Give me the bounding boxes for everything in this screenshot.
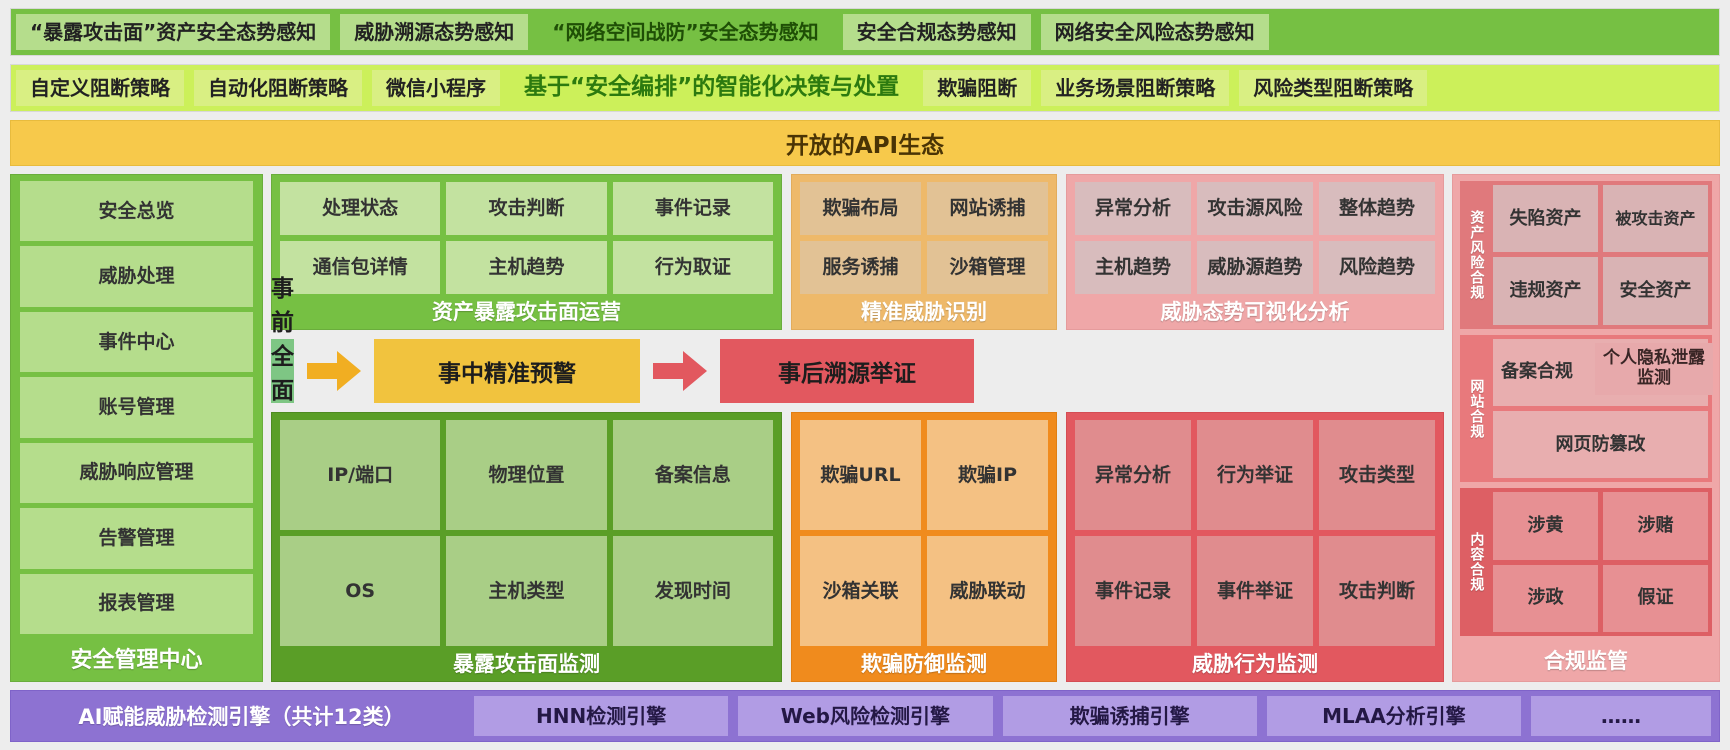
group-grid: 失陷资产 被攻击资产 违规资产 安全资产	[1493, 185, 1708, 325]
arrow-right-red	[649, 339, 711, 403]
architecture-diagram: “暴露攻击面”资产安全态势感知 威胁溯源态势感知 “网络空间战防”安全态势感知 …	[0, 0, 1730, 750]
chip-ip-port[interactable]: IP/端口	[280, 420, 440, 530]
orchestration-item-7[interactable]: 风险类型阻断策略	[1239, 70, 1427, 106]
chip-web-risk-engine[interactable]: Web风险检测引擎	[738, 696, 992, 736]
chip-attack-source-risk[interactable]: 攻击源风险	[1197, 182, 1313, 235]
orchestration-item-4[interactable]: 基于“安全编排”的智能化决策与处置	[510, 70, 913, 106]
stage-before: 事前全面梳理	[271, 339, 294, 403]
panel-grid: 异常分析 行为举证 攻击类型 事件记录 事件举证 攻击判断	[1075, 420, 1435, 646]
panel-title: 欺骗防御监测	[800, 646, 1048, 679]
chip-attacked-assets[interactable]: 被攻击资产	[1603, 185, 1708, 252]
chip-anomaly-analysis[interactable]: 异常分析	[1075, 182, 1191, 235]
chip-service-trap[interactable]: 服务诱捕	[800, 241, 921, 294]
chip-attack-judgement[interactable]: 攻击判断	[446, 182, 606, 235]
panel-precise-threat-identification: 欺骗布局 网站诱捕 服务诱捕 沙箱管理 精准威胁识别	[791, 174, 1057, 330]
panel-grid: 欺骗URL 欺骗IP 沙箱关联 威胁联动	[800, 420, 1048, 646]
security-center-title: 安全管理中心	[20, 639, 253, 677]
stage-flow-row: 事前全面梳理 事中精准预警 事后溯源举证	[271, 339, 325, 403]
panel-grid: 欺骗布局 网站诱捕 服务诱捕 沙箱管理	[800, 182, 1048, 294]
compliance-title: 合规监管	[1460, 642, 1712, 678]
perception-item-3[interactable]: “网络空间战防”安全态势感知	[538, 14, 832, 50]
compliance-supervision: 资产风险合规 失陷资产 被攻击资产 违规资产 安全资产 网站合规 备案合规 网页…	[1452, 174, 1720, 682]
chip-event-record[interactable]: 事件记录	[1075, 536, 1191, 646]
group-label-asset-risk: 资产风险合规	[1464, 185, 1488, 325]
panel-threat-behavior-monitoring: 异常分析 行为举证 攻击类型 事件记录 事件举证 攻击判断 威胁行为监测	[1066, 412, 1444, 682]
panel-asset-exposure-operation: 处理状态 攻击判断 事件记录 通信包详情 主机趋势 行为取证 资产暴露攻击面运营	[271, 174, 782, 330]
panel-deception-defense-monitoring: 欺骗URL 欺骗IP 沙箱关联 威胁联动 欺骗防御监测	[791, 412, 1057, 682]
perception-item-4[interactable]: 安全合规态势感知	[843, 14, 1031, 50]
chip-behavior-evidence[interactable]: 行为举证	[1197, 420, 1313, 530]
chip-website-trap[interactable]: 网站诱捕	[927, 182, 1048, 235]
perception-item-5[interactable]: 网络安全风险态势感知	[1041, 14, 1269, 50]
panel-grid: 异常分析 攻击源风险 整体趋势 主机趋势 威胁源趋势 风险趋势	[1075, 182, 1435, 294]
chip-sandbox-association[interactable]: 沙箱关联	[800, 536, 921, 646]
chip-more-engines[interactable]: ……	[1531, 696, 1711, 736]
chip-attack-judgement[interactable]: 攻击判断	[1319, 536, 1435, 646]
chip-physical-location[interactable]: 物理位置	[446, 420, 606, 530]
orchestration-item-2[interactable]: 自动化阻断策略	[194, 70, 362, 106]
sidebar-item-alarm-management[interactable]: 告警管理	[20, 508, 253, 568]
chip-attack-type[interactable]: 攻击类型	[1319, 420, 1435, 530]
chip-secure-assets[interactable]: 安全资产	[1603, 257, 1708, 324]
chip-event-evidence[interactable]: 事件举证	[1197, 536, 1313, 646]
api-ecosystem-band: 开放的API生态	[10, 120, 1720, 166]
panel-threat-situation-visualization: 异常分析 攻击源风险 整体趋势 主机趋势 威胁源趋势 风险趋势 威胁态势可视化分…	[1066, 174, 1444, 330]
chip-os[interactable]: OS	[280, 536, 440, 646]
group-label-content: 内容合规	[1464, 492, 1488, 632]
group-grid: 涉黄 涉赌 涉政 假证	[1493, 492, 1708, 632]
panel-title: 威胁态势可视化分析	[1075, 294, 1435, 327]
chip-host-trend[interactable]: 主机趋势	[446, 241, 606, 294]
chip-host-trend[interactable]: 主机趋势	[1075, 241, 1191, 294]
perception-item-2[interactable]: 威胁溯源态势感知	[340, 14, 528, 50]
bottom-panel-row: IP/端口 物理位置 备案信息 OS 主机类型 发现时间 暴露攻击面监测 欺骗U…	[271, 412, 1444, 682]
compliance-group-asset-risk: 资产风险合规 失陷资产 被攻击资产 违规资产 安全资产	[1460, 181, 1712, 329]
sidebar-item-threat-handling[interactable]: 威胁处理	[20, 246, 253, 306]
panel-title: 威胁行为监测	[1075, 646, 1435, 679]
chip-risk-trend[interactable]: 风险趋势	[1319, 241, 1435, 294]
chip-compromised-assets[interactable]: 失陷资产	[1493, 185, 1598, 252]
panel-title: 精准威胁识别	[800, 294, 1048, 327]
sidebar-item-threat-response[interactable]: 威胁响应管理	[20, 443, 253, 503]
chip-hnn-engine[interactable]: HNN检测引擎	[474, 696, 728, 736]
chip-deception-url[interactable]: 欺骗URL	[800, 420, 921, 530]
chip-registration-info[interactable]: 备案信息	[613, 420, 773, 530]
main-region: 安全总览 威胁处理 事件中心 账号管理 威胁响应管理 告警管理 报表管理 安全管…	[10, 174, 1720, 682]
chip-threat-linkage[interactable]: 威胁联动	[927, 536, 1048, 646]
panel-title: 资产暴露攻击面运营	[280, 294, 773, 327]
chip-event-record[interactable]: 事件记录	[613, 182, 773, 235]
chip-webpage-anti-tamper[interactable]: 网页防篡改	[1493, 411, 1708, 478]
stage-after: 事后溯源举证	[720, 339, 974, 403]
orchestration-item-3[interactable]: 微信小程序	[372, 70, 500, 106]
orchestration-item-6[interactable]: 业务场景阻断策略	[1041, 70, 1229, 106]
orchestration-band: 自定义阻断策略 自动化阻断策略 微信小程序 基于“安全编排”的智能化决策与处置 …	[10, 64, 1720, 112]
chip-fake-certificates[interactable]: 假证	[1603, 565, 1708, 632]
orchestration-item-1[interactable]: 自定义阻断策略	[16, 70, 184, 106]
panel-grid: 处理状态 攻击判断 事件记录 通信包详情 主机趋势 行为取证	[280, 182, 773, 294]
sidebar-item-overview[interactable]: 安全总览	[20, 181, 253, 241]
engine-band-title: AI赋能威胁检测引擎（共计12类）	[19, 696, 464, 736]
sidebar-item-event-center[interactable]: 事件中心	[20, 312, 253, 372]
chip-processing-status[interactable]: 处理状态	[280, 182, 440, 235]
engine-band: AI赋能威胁检测引擎（共计12类） HNN检测引擎 Web风险检测引擎 欺骗诱捕…	[10, 690, 1720, 742]
chip-gambling[interactable]: 涉赌	[1603, 492, 1708, 559]
chip-anomaly-analysis[interactable]: 异常分析	[1075, 420, 1191, 530]
chip-behavior-forensics[interactable]: 行为取证	[613, 241, 773, 294]
chip-mlaa-engine[interactable]: MLAA分析引擎	[1267, 696, 1521, 736]
chip-deception-ip[interactable]: 欺骗IP	[927, 420, 1048, 530]
chip-overall-trend[interactable]: 整体趋势	[1319, 182, 1435, 235]
arrow-right-amber	[303, 339, 365, 403]
chip-noncompliant-assets[interactable]: 违规资产	[1493, 257, 1598, 324]
chip-packet-detail[interactable]: 通信包详情	[280, 241, 440, 294]
chip-deception-trap-engine[interactable]: 欺骗诱捕引擎	[1003, 696, 1257, 736]
chip-political[interactable]: 涉政	[1493, 565, 1598, 632]
orchestration-item-5[interactable]: 欺骗阻断	[923, 70, 1031, 106]
sidebar-item-account-management[interactable]: 账号管理	[20, 377, 253, 437]
panel-grid: IP/端口 物理位置 备案信息 OS 主机类型 发现时间	[280, 420, 773, 646]
chip-deception-layout[interactable]: 欺骗布局	[800, 182, 921, 235]
panel-title: 暴露攻击面监测	[280, 646, 773, 679]
security-management-center: 安全总览 威胁处理 事件中心 账号管理 威胁响应管理 告警管理 报表管理 安全管…	[10, 174, 263, 682]
top-panel-row: 处理状态 攻击判断 事件记录 通信包详情 主机趋势 行为取证 资产暴露攻击面运营…	[271, 174, 1444, 330]
stage-during: 事中精准预警	[374, 339, 640, 403]
center-stack: 处理状态 攻击判断 事件记录 通信包详情 主机趋势 行为取证 资产暴露攻击面运营…	[271, 174, 1444, 682]
chip-discovery-time[interactable]: 发现时间	[613, 536, 773, 646]
group-label-website: 网站合规	[1464, 339, 1488, 479]
panel-exposed-surface-monitoring: IP/端口 物理位置 备案信息 OS 主机类型 发现时间 暴露攻击面监测	[271, 412, 782, 682]
chip-privacy-leak-monitoring[interactable]: 个人隐私泄露监测	[1595, 343, 1713, 395]
chip-threat-source-trend[interactable]: 威胁源趋势	[1197, 241, 1313, 294]
chip-host-type[interactable]: 主机类型	[446, 536, 606, 646]
sidebar-item-report-management[interactable]: 报表管理	[20, 574, 253, 634]
compliance-group-content: 内容合规 涉黄 涉赌 涉政 假证	[1460, 488, 1712, 636]
perception-band: “暴露攻击面”资产安全态势感知 威胁溯源态势感知 “网络空间战防”安全态势感知 …	[10, 8, 1720, 56]
chip-sandbox-management[interactable]: 沙箱管理	[927, 241, 1048, 294]
chip-pornography[interactable]: 涉黄	[1493, 492, 1598, 559]
perception-item-1[interactable]: “暴露攻击面”资产安全态势感知	[16, 14, 330, 50]
